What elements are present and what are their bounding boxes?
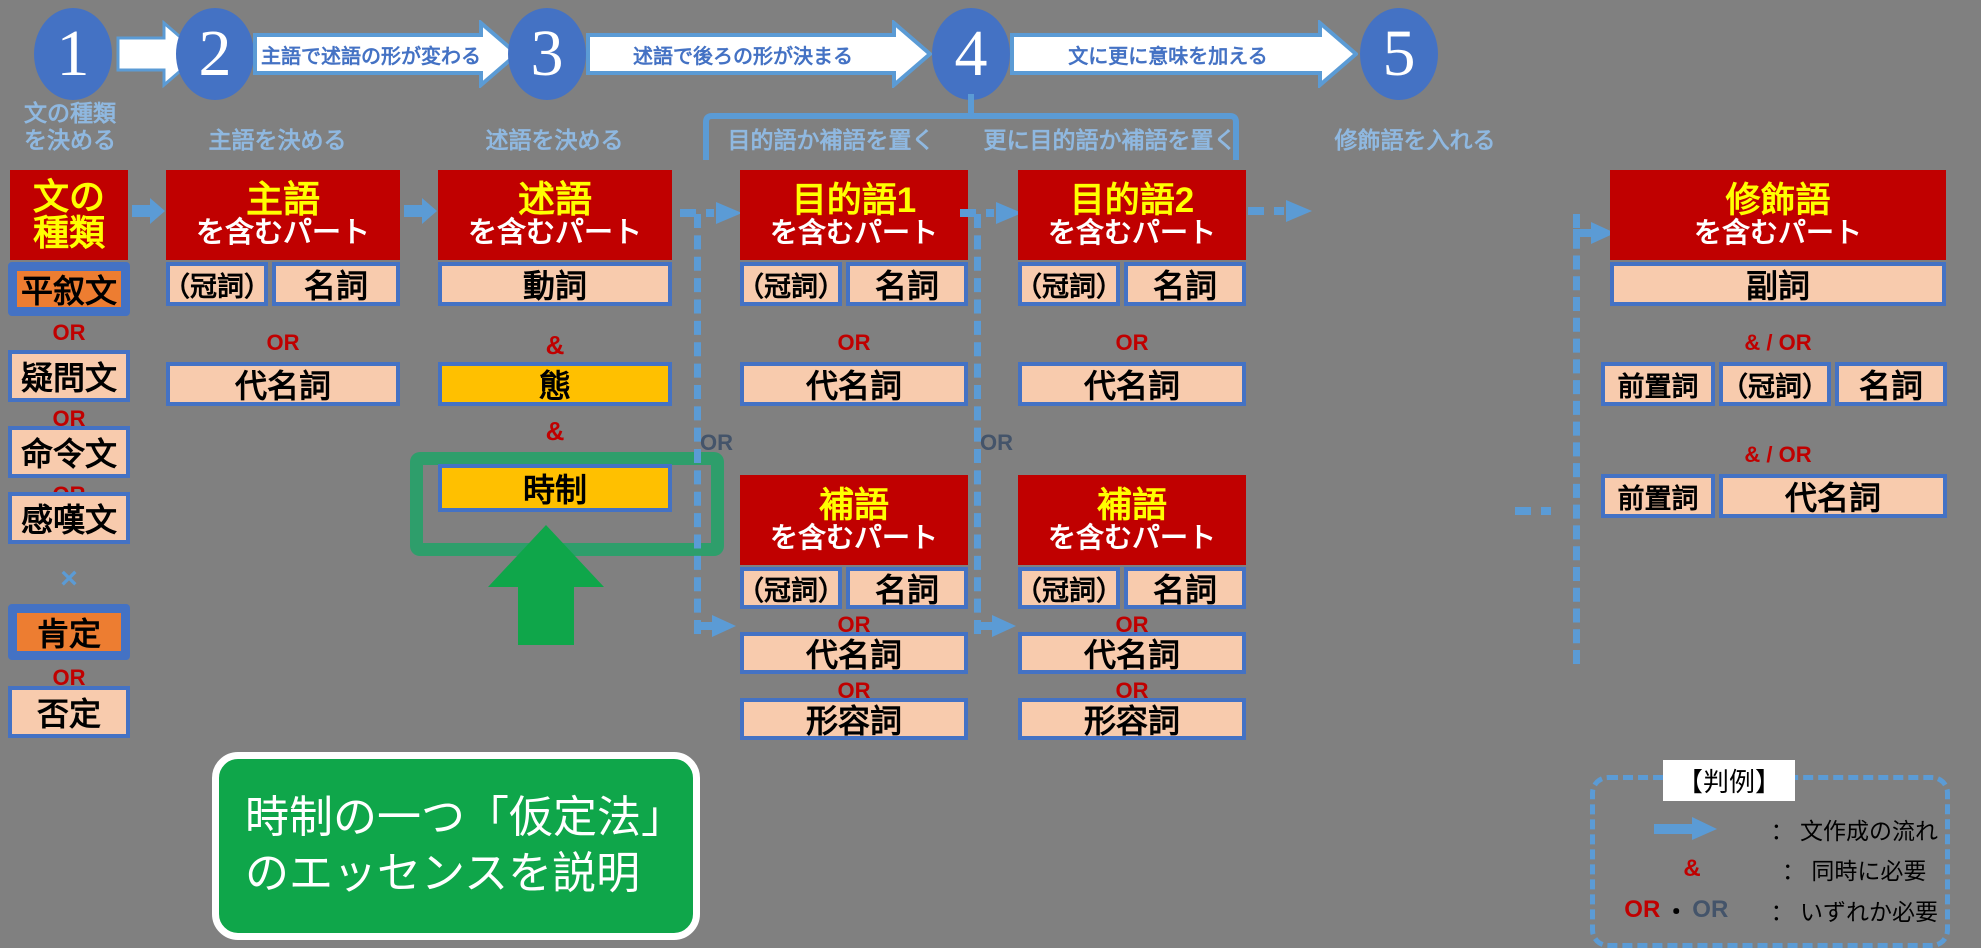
complement2-header: 補語 を含むパート (1018, 475, 1246, 565)
step-circle-5: 5 (1360, 8, 1438, 100)
dashed-arrow-to-complement2 (974, 613, 1018, 639)
chip-complement2-adjective[interactable]: 形容詞 (1018, 698, 1246, 740)
connector-predicate-amp-2: & (438, 416, 672, 447)
complement1-header: 補語 を含むパート (740, 475, 968, 565)
step-circle-3: 3 (508, 8, 586, 100)
complement2-header-bottom: を含むパート (1048, 524, 1216, 553)
column-caption-6: 修飾語を入れる (1270, 127, 1560, 154)
dashed-arrow-to-complement1 (694, 613, 738, 639)
step-arrow-3-label-wrap: 述語で後ろの形が決まる (586, 20, 932, 88)
predicate-header-bottom: を含むパート (468, 219, 642, 249)
chip-interrogative[interactable]: 疑問文 (8, 350, 130, 402)
sentence-type-header-line1: 文の (33, 179, 105, 215)
object2-header-bottom: を含むパート (1048, 219, 1216, 248)
chip-affirmative[interactable]: 肯定 (8, 604, 130, 660)
chip-complement2-noun[interactable]: 名詞 (1124, 567, 1246, 609)
predicate-header-top: 述語 (518, 181, 592, 219)
chip-complement1-adjective[interactable]: 形容詞 (740, 698, 968, 740)
legend-desc-flow: ： 文作成の流れ (1765, 812, 1938, 846)
chip-imperative[interactable]: 命令文 (8, 426, 130, 478)
chip-predicate-verb[interactable]: 動詞 (438, 262, 672, 306)
chip-predicate-tense[interactable]: 時制 (438, 464, 672, 512)
legend-row-or: OR・OR ： いずれか必要 (1588, 892, 1938, 927)
step-number-4: 4 (955, 21, 988, 87)
column-caption-1-line1: 文の種類 (0, 100, 140, 127)
column-caption-1-line2: を決める (0, 127, 140, 154)
chip-object1-article[interactable]: （冠詞） (740, 262, 842, 306)
diagram-canvas: 1 2 主語で述語の形が変わる 3 述語で後ろの形が決まる 4 文に更に意味を加… (0, 0, 1981, 948)
dashed-connector-1 (694, 214, 701, 634)
column-caption-1: 文の種類 を決める (0, 100, 140, 154)
step-arrow-4-label: 文に更に意味を加える (1010, 20, 1358, 88)
legend-row-amp: & ： 同時に必要 (1608, 852, 1938, 886)
connector-object1-or: OR (740, 330, 968, 356)
legend-or-icon: OR・OR (1588, 892, 1765, 927)
chip-modifier-preposition-2[interactable]: 前置詞 (1601, 474, 1715, 518)
chip-complement2-pronoun[interactable]: 代名詞 (1018, 632, 1246, 674)
chip-modifier-noun[interactable]: 名詞 (1835, 362, 1947, 406)
legend-amp-icon: & (1608, 855, 1776, 883)
chip-modifier-preposition-1[interactable]: 前置詞 (1601, 362, 1715, 406)
dashed-arrow-to-object2 (960, 200, 1024, 226)
chip-object2-noun[interactable]: 名詞 (1124, 262, 1246, 306)
chip-modifier-article[interactable]: （冠詞） (1719, 362, 1831, 406)
step-arrow-2-label: 主語で述語の形が変わる (253, 20, 519, 88)
subject-header-bottom: を含むパート (196, 219, 370, 249)
chip-complement1-noun[interactable]: 名詞 (846, 567, 968, 609)
step-number-3: 3 (531, 21, 564, 87)
complement1-header-top: 補語 (819, 488, 889, 524)
object1-header-bottom: を含むパート (770, 219, 938, 248)
connector-predicate-amp-1: & (438, 330, 672, 361)
chip-subject-pronoun[interactable]: 代名詞 (166, 362, 400, 406)
step-number-2: 2 (199, 21, 232, 87)
chip-subject-article[interactable]: （冠詞） (166, 262, 268, 306)
legend-row-flow: ： 文作成の流れ (1608, 812, 1938, 846)
sentence-type-header-line2: 種類 (33, 215, 105, 251)
legend-desc-amp: ： 同時に必要 (1776, 852, 1926, 886)
sentence-type-header: 文の 種類 (10, 170, 128, 260)
step-circle-2: 2 (176, 8, 254, 100)
chip-object1-noun[interactable]: 名詞 (846, 262, 968, 306)
step-arrow-4-label-wrap: 文に更に意味を加える (1010, 20, 1358, 88)
dashed-connector-3 (1573, 214, 1580, 664)
modifier-header-bottom: を含むパート (1694, 219, 1862, 248)
subject-header: 主語 を含むパート (166, 170, 400, 260)
legend-desc-or: ： いずれか必要 (1765, 893, 1938, 927)
step-number-5: 5 (1383, 21, 1416, 87)
step-arrow-3-label: 述語で後ろの形が決まる (586, 20, 932, 88)
tense-callout-line2: のエッセンスを説明 (245, 846, 667, 902)
object1-header-top: 目的語1 (792, 183, 916, 219)
chip-modifier-pronoun[interactable]: 代名詞 (1719, 474, 1947, 518)
tense-callout: 時制の一つ「仮定法」 のエッセンスを説明 (212, 752, 700, 940)
column-caption-2: 主語を決める (155, 127, 400, 154)
chip-modifier-adverb[interactable]: 副詞 (1610, 262, 1946, 306)
connector-object2-or: OR (1018, 330, 1246, 356)
chip-complement1-article[interactable]: （冠詞） (740, 567, 842, 609)
connector-modifier-2: & / OR (1610, 442, 1946, 468)
chip-declarative[interactable]: 平叙文 (8, 262, 130, 316)
object2-header-top: 目的語2 (1070, 183, 1194, 219)
connector-object-or-gray-2: OR (974, 430, 1034, 456)
modifier-header-top: 修飾語 (1725, 183, 1830, 219)
chip-complement1-pronoun[interactable]: 代名詞 (740, 632, 968, 674)
chip-object2-pronoun[interactable]: 代名詞 (1018, 362, 1246, 406)
step-circle-4: 4 (932, 8, 1010, 100)
legend-title: 【判例】 (1663, 760, 1795, 801)
chip-predicate-voice[interactable]: 態 (438, 362, 672, 406)
callout-pointer-arrow (486, 525, 606, 645)
legend-arrow-icon (1608, 817, 1765, 841)
object1-header: 目的語1 を含むパート (740, 170, 968, 260)
dashed-arrow-modifier-lower (1515, 498, 1577, 524)
dashed-arrow-to-modifier-top (1248, 198, 1314, 224)
connector-object-or-gray-1: OR (694, 430, 754, 456)
column-caption-4: 目的語か補語を置く (700, 127, 962, 154)
predicate-header: 述語 を含むパート (438, 170, 672, 260)
tense-callout-line1: 時制の一つ「仮定法」 (245, 790, 667, 846)
chip-complement2-article[interactable]: （冠詞） (1018, 567, 1120, 609)
multiplier-symbol: × (8, 562, 130, 596)
connector-subject-or: OR (166, 330, 400, 356)
subject-header-top: 主語 (246, 181, 320, 219)
chip-object1-pronoun[interactable]: 代名詞 (740, 362, 968, 406)
dashed-arrow-to-object1 (680, 200, 744, 226)
complement2-header-top: 補語 (1097, 488, 1167, 524)
dashed-connector-2 (974, 214, 981, 634)
connector-or-1: OR (8, 320, 130, 346)
step-circle-1: 1 (34, 8, 112, 100)
step-arrow-2-label-wrap: 主語で述語の形が変わる (253, 20, 519, 88)
chip-exclamatory[interactable]: 感嘆文 (8, 492, 130, 544)
chip-object2-article[interactable]: （冠詞） (1018, 262, 1120, 306)
chip-subject-noun[interactable]: 名詞 (272, 262, 400, 306)
flow-arrow-1 (132, 196, 166, 226)
connector-modifier-1: & / OR (1610, 330, 1946, 356)
modifier-header: 修飾語 を含むパート (1610, 170, 1946, 260)
object2-header: 目的語2 を含むパート (1018, 170, 1246, 260)
chip-negative[interactable]: 否定 (8, 686, 130, 738)
flow-arrow-2 (404, 196, 438, 226)
complement1-header-bottom: を含むパート (770, 524, 938, 553)
column-caption-5: 更に目的語か補語を置く (960, 127, 1260, 154)
step-number-1: 1 (57, 21, 90, 87)
column-caption-3: 述語を決める (432, 127, 677, 154)
